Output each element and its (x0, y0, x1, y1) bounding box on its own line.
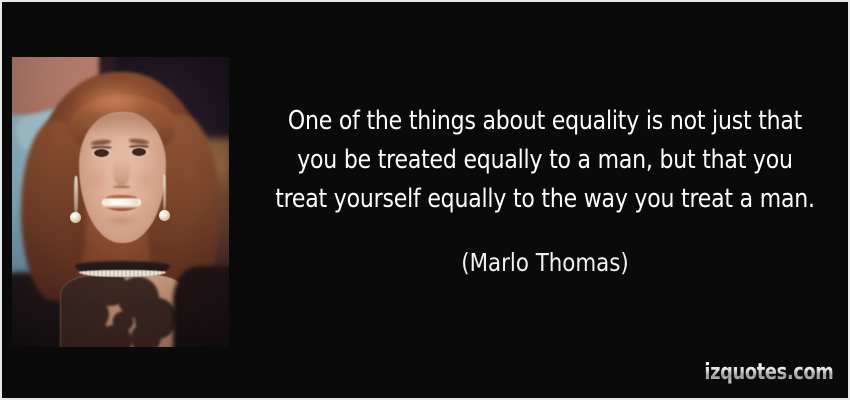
quote-image-canvas: One of the things about equality is not … (0, 0, 850, 400)
quote-line-2: you be treated equally to a man, but tha… (260, 141, 830, 180)
watermark-izquotes: izquotes.com (705, 360, 834, 385)
portrait-photo (12, 57, 229, 347)
quote-attribution: (Marlo Thomas) (257, 248, 833, 278)
photo-vignette (12, 57, 229, 347)
quote-line-3: treat yourself equally to the way you tr… (260, 180, 830, 219)
quote-line-1: One of the things about equality is not … (260, 102, 830, 141)
quote-text: One of the things about equality is not … (242, 102, 848, 219)
portrait-photo-content (12, 57, 229, 347)
